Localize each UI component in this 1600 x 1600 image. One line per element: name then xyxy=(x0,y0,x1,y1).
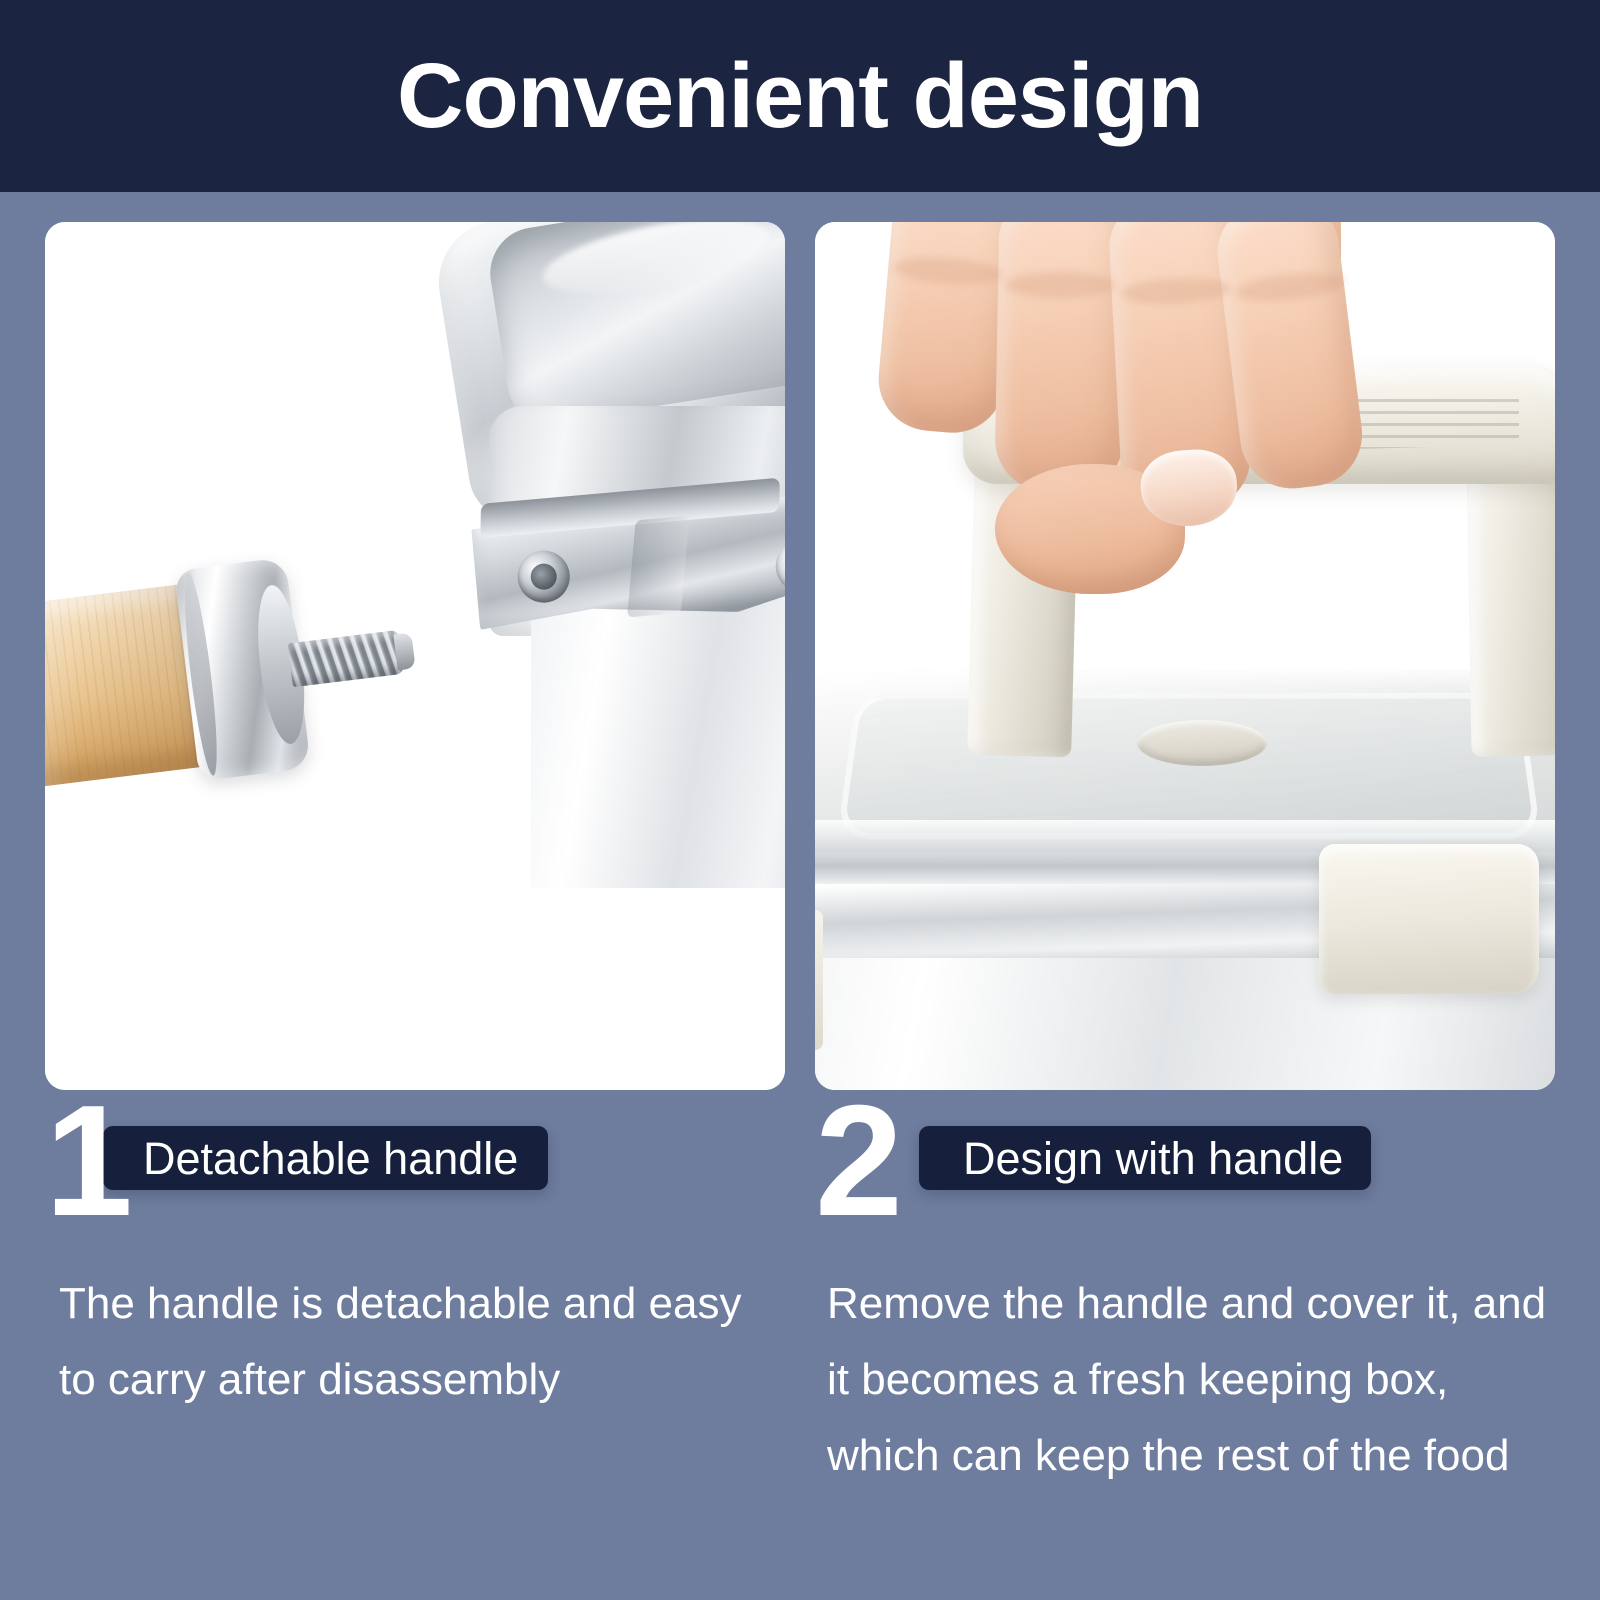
step-1-heading: 1 Detachable handle xyxy=(45,1090,805,1242)
step-card-2: 2 Design with handle Remove the handle a… xyxy=(815,192,1555,1600)
knuckle-crease-2 xyxy=(1005,272,1115,298)
stainless-pot xyxy=(423,222,785,852)
step-1-number: 1 xyxy=(45,1090,129,1232)
detachable-handle-photo xyxy=(45,222,785,1090)
step-2-photo-card xyxy=(815,222,1555,1090)
step-1-description: The handle is detachable and easy to car… xyxy=(59,1266,759,1418)
step-2-caption: 2 Design with handle Remove the handle a… xyxy=(815,1090,1575,1242)
step-2-number: 2 xyxy=(815,1090,899,1232)
lid-side-clip xyxy=(1319,844,1539,994)
handle-leg-right xyxy=(1466,455,1555,757)
screw-tip xyxy=(393,632,415,670)
handle-design-photo xyxy=(815,222,1555,1090)
step-1-photo-card xyxy=(45,222,785,1090)
screw-hole-inner xyxy=(530,563,558,591)
handle-mount-bracket xyxy=(468,462,785,664)
step-1-badge-label: Detachable handle xyxy=(143,1136,518,1181)
lid-left-clip xyxy=(815,910,823,1050)
page-header: Convenient design xyxy=(0,0,1600,192)
wooden-handle-icon xyxy=(45,557,317,802)
step-2-description: Remove the handle and cover it, and it b… xyxy=(827,1266,1547,1494)
step-1-caption: 1 Detachable handle The handle is detach… xyxy=(45,1090,805,1242)
step-2-badge-label: Design with handle xyxy=(963,1136,1343,1181)
step-2-badge: Design with handle xyxy=(919,1126,1371,1190)
bracket-fold xyxy=(627,516,689,618)
threaded-screw-icon xyxy=(288,630,405,687)
step-1-badge: Detachable handle xyxy=(103,1126,548,1190)
hand-gripping-handle xyxy=(845,222,1405,632)
step-2-heading: 2 Design with handle xyxy=(815,1090,1575,1242)
step-card-1: 1 Detachable handle The handle is detach… xyxy=(45,192,785,1600)
finger-middle xyxy=(994,222,1127,493)
page-title: Convenient design xyxy=(397,50,1203,142)
steps-container: 1 Detachable handle The handle is detach… xyxy=(0,192,1600,1600)
